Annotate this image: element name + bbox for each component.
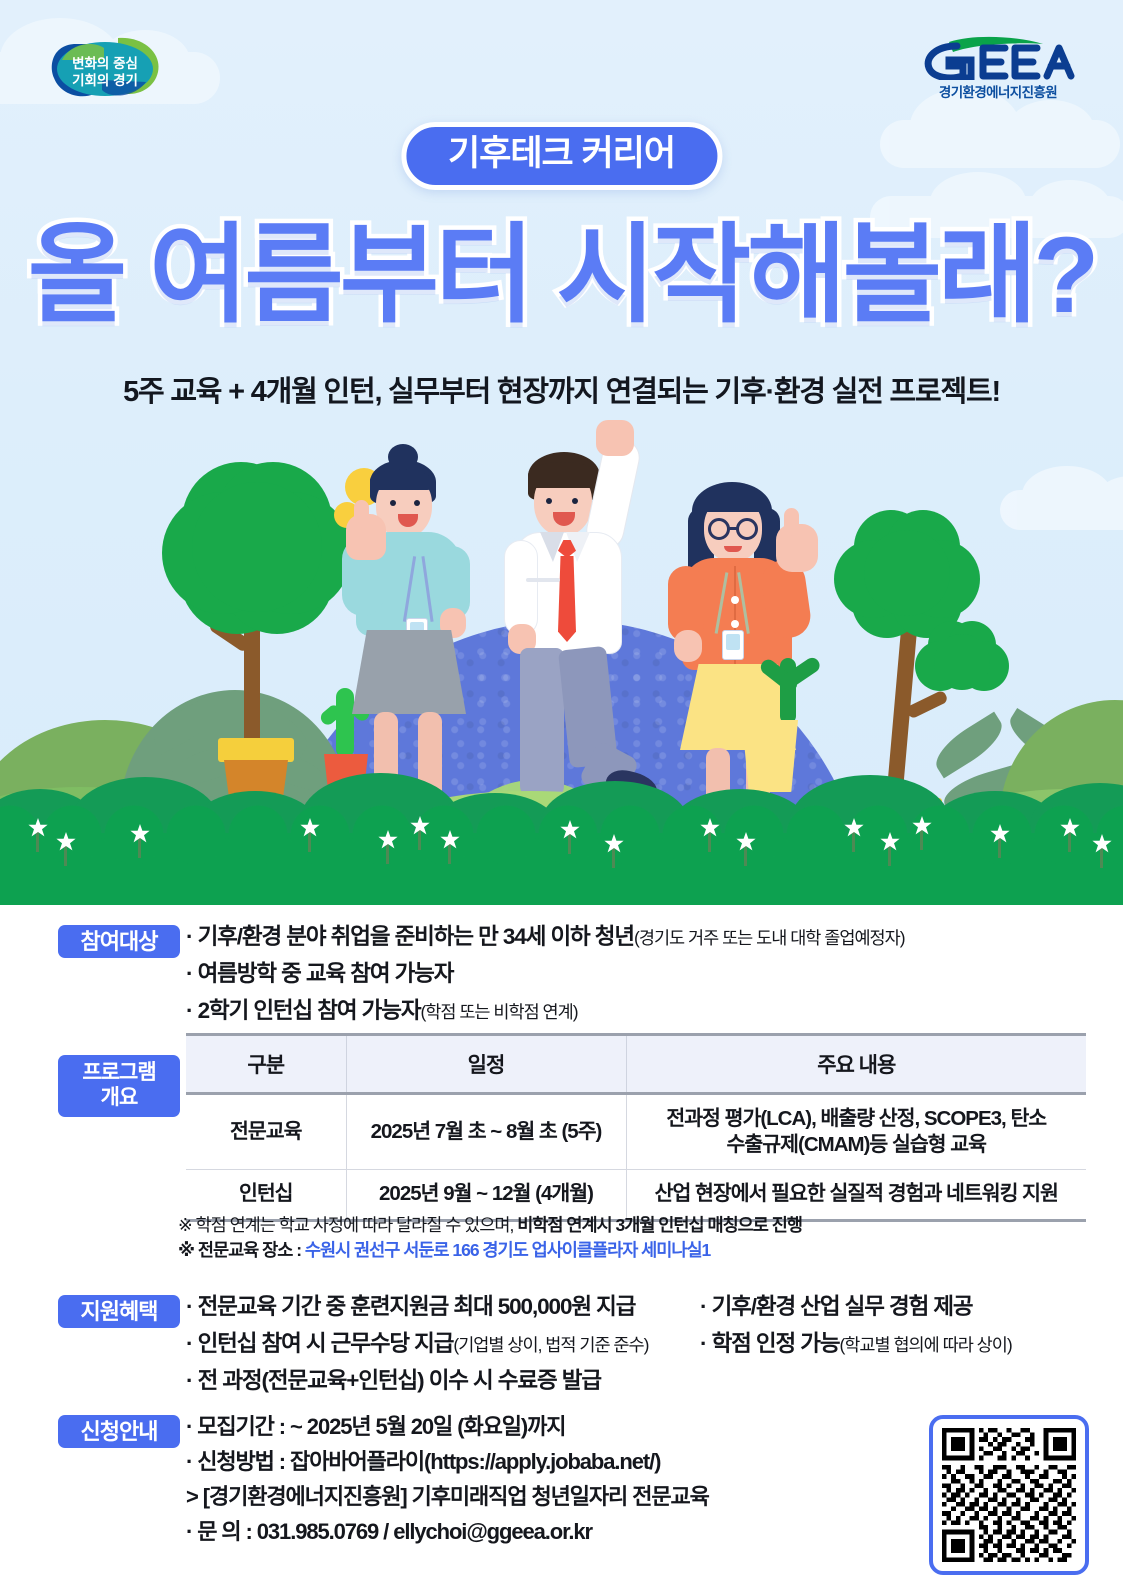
item-strong: 학점 인정 가능 <box>712 1331 840 1356</box>
glasses-icon <box>736 518 758 540</box>
tag-program-line1: 프로그램 <box>82 1061 155 1086</box>
page-title: 올 여름부터 시작해볼래? <box>0 218 1123 331</box>
list-item: · 기후/환경 분야 취업을 준비하는 만 34세 이하 청년(경기도 거주 또… <box>186 919 905 956</box>
benefit-list-right: · 기후/환경 산업 실무 경험 제공 · 학점 인정 가능(학교별 협의에 따… <box>700 1289 1012 1363</box>
cell-type: 전문교육 <box>186 1094 346 1170</box>
item-strong: 여름방학 중 교육 참여 가능자 <box>198 961 454 986</box>
item-strong: 전 과정(전문교육+인턴십) 이수 시 수료증 발급 <box>198 1368 601 1393</box>
target-list: · 기후/환경 분야 취업을 준비하는 만 34세 이하 청년(경기도 거주 또… <box>186 919 905 1030</box>
gyeonggi-logo-line1: 변화의 중심 <box>72 55 138 71</box>
note-prefix: ※ 학점 연계는 학교 사정에 따라 달라질 수 있으며, <box>178 1215 517 1235</box>
tag-apply: 신청안내 <box>58 1415 180 1448</box>
tag-program-line2: 개요 <box>82 1086 155 1111</box>
table-header-row: 구분 일정 주요 내용 <box>186 1035 1086 1094</box>
tag-program: 프로그램 개요 <box>58 1055 180 1117</box>
col-header-content: 주요 내용 <box>626 1035 1086 1094</box>
note-venue-label: ※ 전문교육 장소 : <box>178 1240 305 1260</box>
glasses-icon <box>708 518 730 540</box>
item-strong: 전문교육 기간 중 훈련지원금 최대 500,000원 지급 <box>198 1294 636 1319</box>
list-item: · 문 의 : 031.985.0769 / ellychoi@ggeea.or… <box>186 1514 709 1549</box>
list-item: · 전문교육 기간 중 훈련지원금 최대 500,000원 지급 <box>186 1289 648 1326</box>
flower-icon <box>880 832 900 852</box>
content-area: 참여대상 · 기후/환경 분야 취업을 준비하는 만 34세 이하 청년(경기도… <box>0 905 1123 1587</box>
list-item: · 2학기 인턴십 참여 가능자(학점 또는 비학점 연계) <box>186 993 905 1030</box>
flower-icon <box>28 818 48 838</box>
flower-icon <box>300 818 320 838</box>
flower-icon <box>700 818 720 838</box>
hero-illustration <box>0 420 1123 905</box>
program-table: 구분 일정 주요 내용 전문교육 2025년 7월 초 ~ 8월 초 (5주) … <box>186 1033 1086 1222</box>
list-item: · 여름방학 중 교육 참여 가능자 <box>186 956 905 993</box>
flower-icon <box>378 830 398 850</box>
tag-target: 참여대상 <box>58 925 180 958</box>
flower-icon <box>440 830 460 850</box>
bullet: · <box>186 961 192 986</box>
bullet: · <box>700 1294 706 1319</box>
flower-icon <box>1060 818 1080 838</box>
table-row: 전문교육 2025년 7월 초 ~ 8월 초 (5주) 전과정 평가(LCA),… <box>186 1094 1086 1170</box>
benefit-list-left: · 전문교육 기간 중 훈련지원금 최대 500,000원 지급 · 인턴십 참… <box>186 1289 648 1400</box>
page-subtitle: 5주 교육 + 4개월 인턴, 실무부터 현장까지 연결되는 기후·환경 실전 … <box>0 368 1123 410</box>
list-item: > [경기환경에너지진흥원] 기후미래직업 청년일자리 전문교육 <box>186 1479 709 1514</box>
note-credit: ※ 학점 연계는 학교 사정에 따라 달라질 수 있으며, 비학점 연계시 3개… <box>178 1213 802 1238</box>
grass-band <box>0 833 1123 905</box>
col-header-schedule: 일정 <box>346 1035 626 1094</box>
apply-list: · 모집기간 : ~ 2025년 5월 20일 (화요일)까지 · 신청방법 :… <box>186 1409 709 1549</box>
qr-code[interactable] <box>929 1415 1089 1575</box>
sky-background: 변화의 중심 기회의 경기 경기환경에너지진흥원 기후테크 커리어 올 여름부터… <box>0 0 1123 905</box>
list-item: · 전 과정(전문교육+인턴십) 이수 시 수료증 발급 <box>186 1363 648 1400</box>
flower-icon <box>736 832 756 852</box>
flower-icon <box>56 832 76 852</box>
flower-icon <box>912 816 932 836</box>
item-strong: 기후/환경 분야 취업을 준비하는 만 34세 이하 청년 <box>198 924 634 949</box>
bullet: · <box>700 1331 706 1356</box>
flower-icon <box>560 820 580 840</box>
item-note: (기업별 상이, 법적 기준 준수) <box>453 1335 648 1355</box>
poster-root: 변화의 중심 기회의 경기 경기환경에너지진흥원 기후테크 커리어 올 여름부터… <box>0 0 1123 1587</box>
bullet: · <box>186 1331 192 1356</box>
bullet: · <box>186 924 192 949</box>
note-venue-value: 수원시 권선구 서둔로 166 경기도 업사이클플라자 세미나실1 <box>305 1240 710 1260</box>
item-strong: 기후/환경 산업 실무 경험 제공 <box>712 1294 973 1319</box>
flower-icon <box>844 818 864 838</box>
flower-icon <box>604 834 624 854</box>
qr-code-image <box>942 1428 1076 1562</box>
list-item: · 모집기간 : ~ 2025년 5월 20일 (화요일)까지 <box>186 1409 709 1444</box>
item-note: (학점 또는 비학점 연계) <box>420 1002 577 1022</box>
note-bold: 비학점 연계시 3개월 인턴십 매칭으로 진행 <box>517 1215 802 1235</box>
id-badge-icon <box>722 630 744 660</box>
campaign-pill: 기후테크 커리어 <box>401 122 722 190</box>
col-header-type: 구분 <box>186 1035 346 1094</box>
flower-icon <box>130 824 150 844</box>
ggeea-logo: 경기환경에너지진흥원 <box>913 36 1083 102</box>
cell-schedule: 2025년 7월 초 ~ 8월 초 (5주) <box>346 1094 626 1170</box>
flower-pot-icon <box>742 720 798 792</box>
cloud-icon <box>880 120 1120 168</box>
cell-content: 전과정 평가(LCA), 배출량 산정, SCOPE3, 탄소 수출규제(CMA… <box>626 1094 1086 1170</box>
list-item[interactable]: · 신청방법 : 잡아바어플라이(https://apply.jobaba.ne… <box>186 1444 709 1479</box>
list-item: · 인턴십 참여 시 근무수당 지급(기업별 상이, 법적 기준 준수) <box>186 1326 648 1363</box>
program-notes: ※ 학점 연계는 학교 사정에 따라 달라질 수 있으며, 비학점 연계시 3개… <box>178 1213 802 1263</box>
flower-icon <box>410 816 430 836</box>
bullet: · <box>186 1294 192 1319</box>
item-strong: 2학기 인턴십 참여 가능자 <box>198 998 421 1023</box>
flower-icon <box>990 824 1010 844</box>
list-item: · 학점 인정 가능(학교별 협의에 따라 상이) <box>700 1326 1012 1363</box>
note-venue: ※ 전문교육 장소 : 수원시 권선구 서둔로 166 경기도 업사이클플라자 … <box>178 1238 802 1263</box>
item-strong: 인턴십 참여 시 근무수당 지급 <box>198 1331 454 1356</box>
gyeonggi-logo-line2: 기회의 경기 <box>72 72 138 88</box>
item-note: (경기도 거주 또는 도내 대학 졸업예정자) <box>634 928 905 948</box>
list-item: · 기후/환경 산업 실무 경험 제공 <box>700 1289 1012 1326</box>
flower-icon <box>1092 834 1112 854</box>
ggeea-logo-name: 경기환경에너지진흥원 <box>939 81 1057 101</box>
bullet: · <box>186 998 192 1023</box>
tag-benefit: 지원혜택 <box>58 1295 180 1328</box>
gyeonggi-logo: 변화의 중심 기회의 경기 <box>46 30 164 108</box>
item-note: (학교별 협의에 따라 상이) <box>839 1335 1011 1355</box>
bullet: · <box>186 1368 192 1393</box>
